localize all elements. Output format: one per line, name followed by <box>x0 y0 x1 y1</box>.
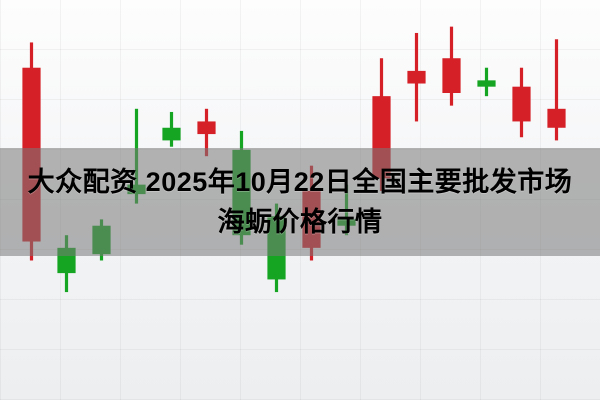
candle-body <box>477 80 495 86</box>
candle-body <box>197 121 215 134</box>
candle-body <box>442 58 460 93</box>
candle-body <box>162 128 180 141</box>
chart-screenshot: 大众配资 2025年10月22日全国主要批发市场海蛎价格行情 <box>0 0 600 400</box>
candle-body <box>512 87 530 122</box>
candle-body <box>547 109 565 128</box>
page-title: 大众配资 2025年10月22日全国主要批发市场海蛎价格行情 <box>0 148 600 256</box>
candle-body <box>407 71 425 84</box>
